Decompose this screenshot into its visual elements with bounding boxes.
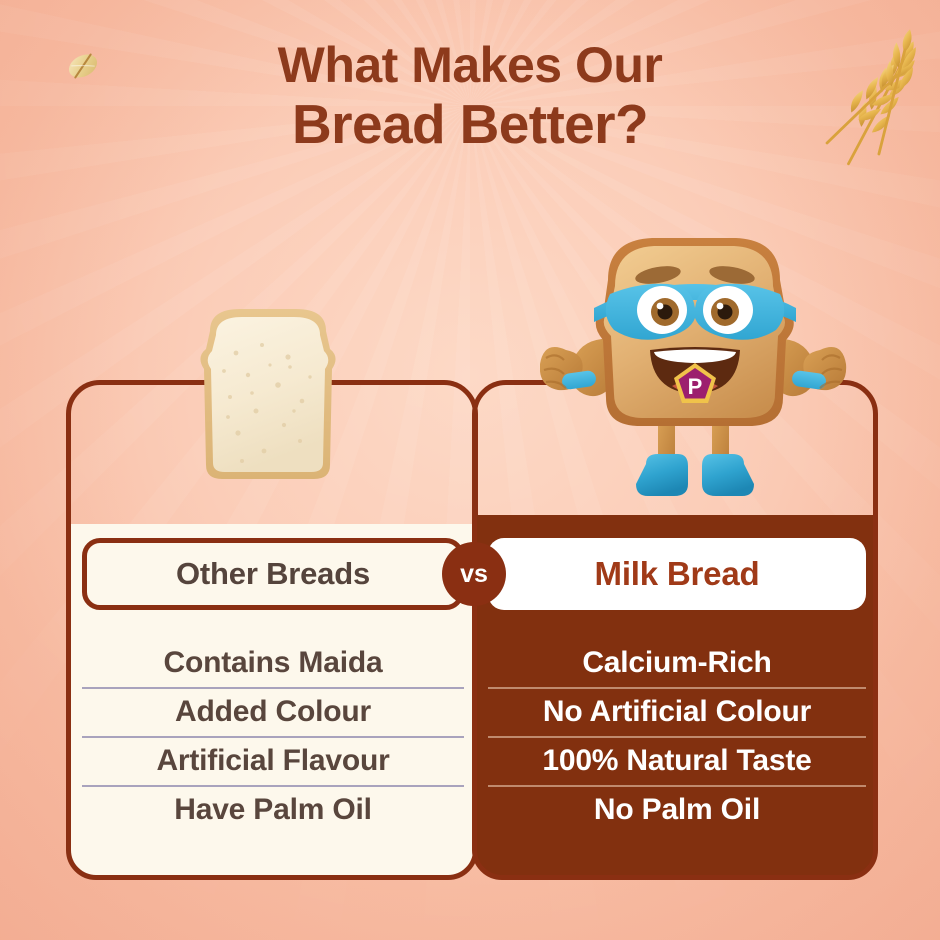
title-line-1: What Makes Our xyxy=(0,38,940,92)
list-item: Have Palm Oil xyxy=(82,785,464,834)
list-item: Contains Maida xyxy=(82,640,464,687)
list-item: Artificial Flavour xyxy=(82,736,464,785)
chip-other-breads-label: Other Breads xyxy=(176,556,370,592)
vs-badge: vs xyxy=(442,542,506,606)
page-title: What Makes Our Bread Better? xyxy=(0,38,940,156)
superhero-bread-mascot-image: P xyxy=(540,222,850,522)
chip-other-breads[interactable]: Other Breads xyxy=(82,538,464,610)
mascot-badge-letter: P xyxy=(688,374,703,399)
title-line-2: Bread Better? xyxy=(0,94,940,156)
list-item: Calcium-Rich xyxy=(488,640,866,687)
feature-list-other-breads: Contains Maida Added Colour Artificial F… xyxy=(82,640,464,834)
vs-label: vs xyxy=(460,560,488,589)
list-item: No Artificial Colour xyxy=(488,687,866,736)
poster-canvas: What Makes Our Bread Better? xyxy=(0,0,940,940)
list-item: Added Colour xyxy=(82,687,464,736)
list-item: No Palm Oil xyxy=(488,785,866,834)
feature-list-milk-bread: Calcium-Rich No Artificial Colour 100% N… xyxy=(488,640,866,834)
plain-bread-slice-image xyxy=(180,305,356,485)
chip-milk-bread-label: Milk Bread xyxy=(595,555,760,593)
list-item: 100% Natural Taste xyxy=(488,736,866,785)
chip-milk-bread[interactable]: Milk Bread xyxy=(488,538,866,610)
